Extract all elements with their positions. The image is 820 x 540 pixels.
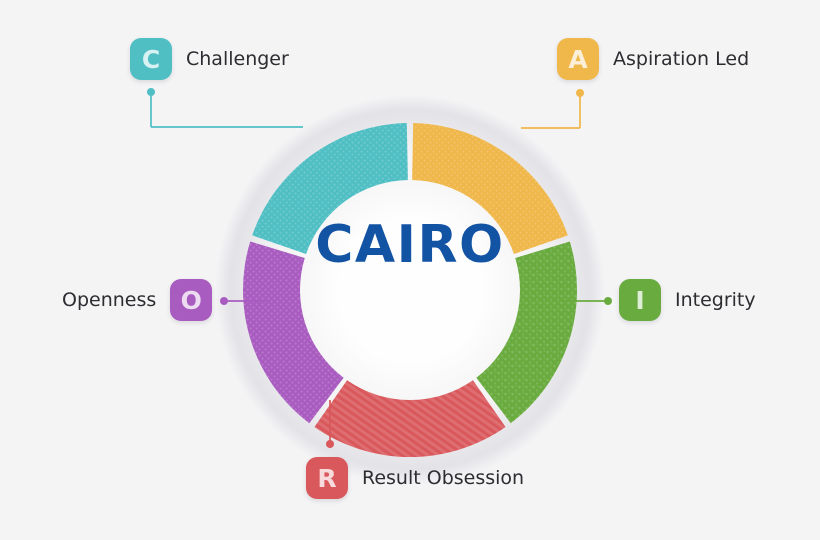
badge-challenger: C: [130, 38, 172, 80]
legend-label-integrity: Integrity: [675, 289, 756, 311]
badge-openness: O: [170, 279, 212, 321]
badge-result-obsession: R: [306, 457, 348, 499]
legend-item-openness[interactable]: O Openness: [62, 279, 212, 321]
legend-item-integrity[interactable]: I Integrity: [619, 279, 756, 321]
connector-dot-openness: [220, 297, 228, 305]
badge-aspiration: A: [557, 38, 599, 80]
center-label: CAIRO: [0, 216, 820, 274]
legend-label-openness: Openness: [62, 289, 156, 311]
legend-item-result-obsession[interactable]: R Result Obsession: [306, 457, 524, 499]
legend-label-result-obsession: Result Obsession: [362, 467, 524, 489]
badge-integrity: I: [619, 279, 661, 321]
connector-dot-aspiration: [576, 89, 584, 97]
legend-label-challenger: Challenger: [186, 48, 289, 70]
connector-dot-integrity: [604, 297, 612, 305]
legend-label-aspiration: Aspiration Led: [613, 48, 749, 70]
connector-dot-result-obsession: [326, 440, 334, 448]
legend-item-challenger[interactable]: C Challenger: [130, 38, 289, 80]
connector-dot-challenger: [147, 88, 155, 96]
legend-item-aspiration[interactable]: A Aspiration Led: [557, 38, 749, 80]
diagram-canvas: CAIRO C Challenger A Aspiration Led I In…: [0, 0, 820, 540]
